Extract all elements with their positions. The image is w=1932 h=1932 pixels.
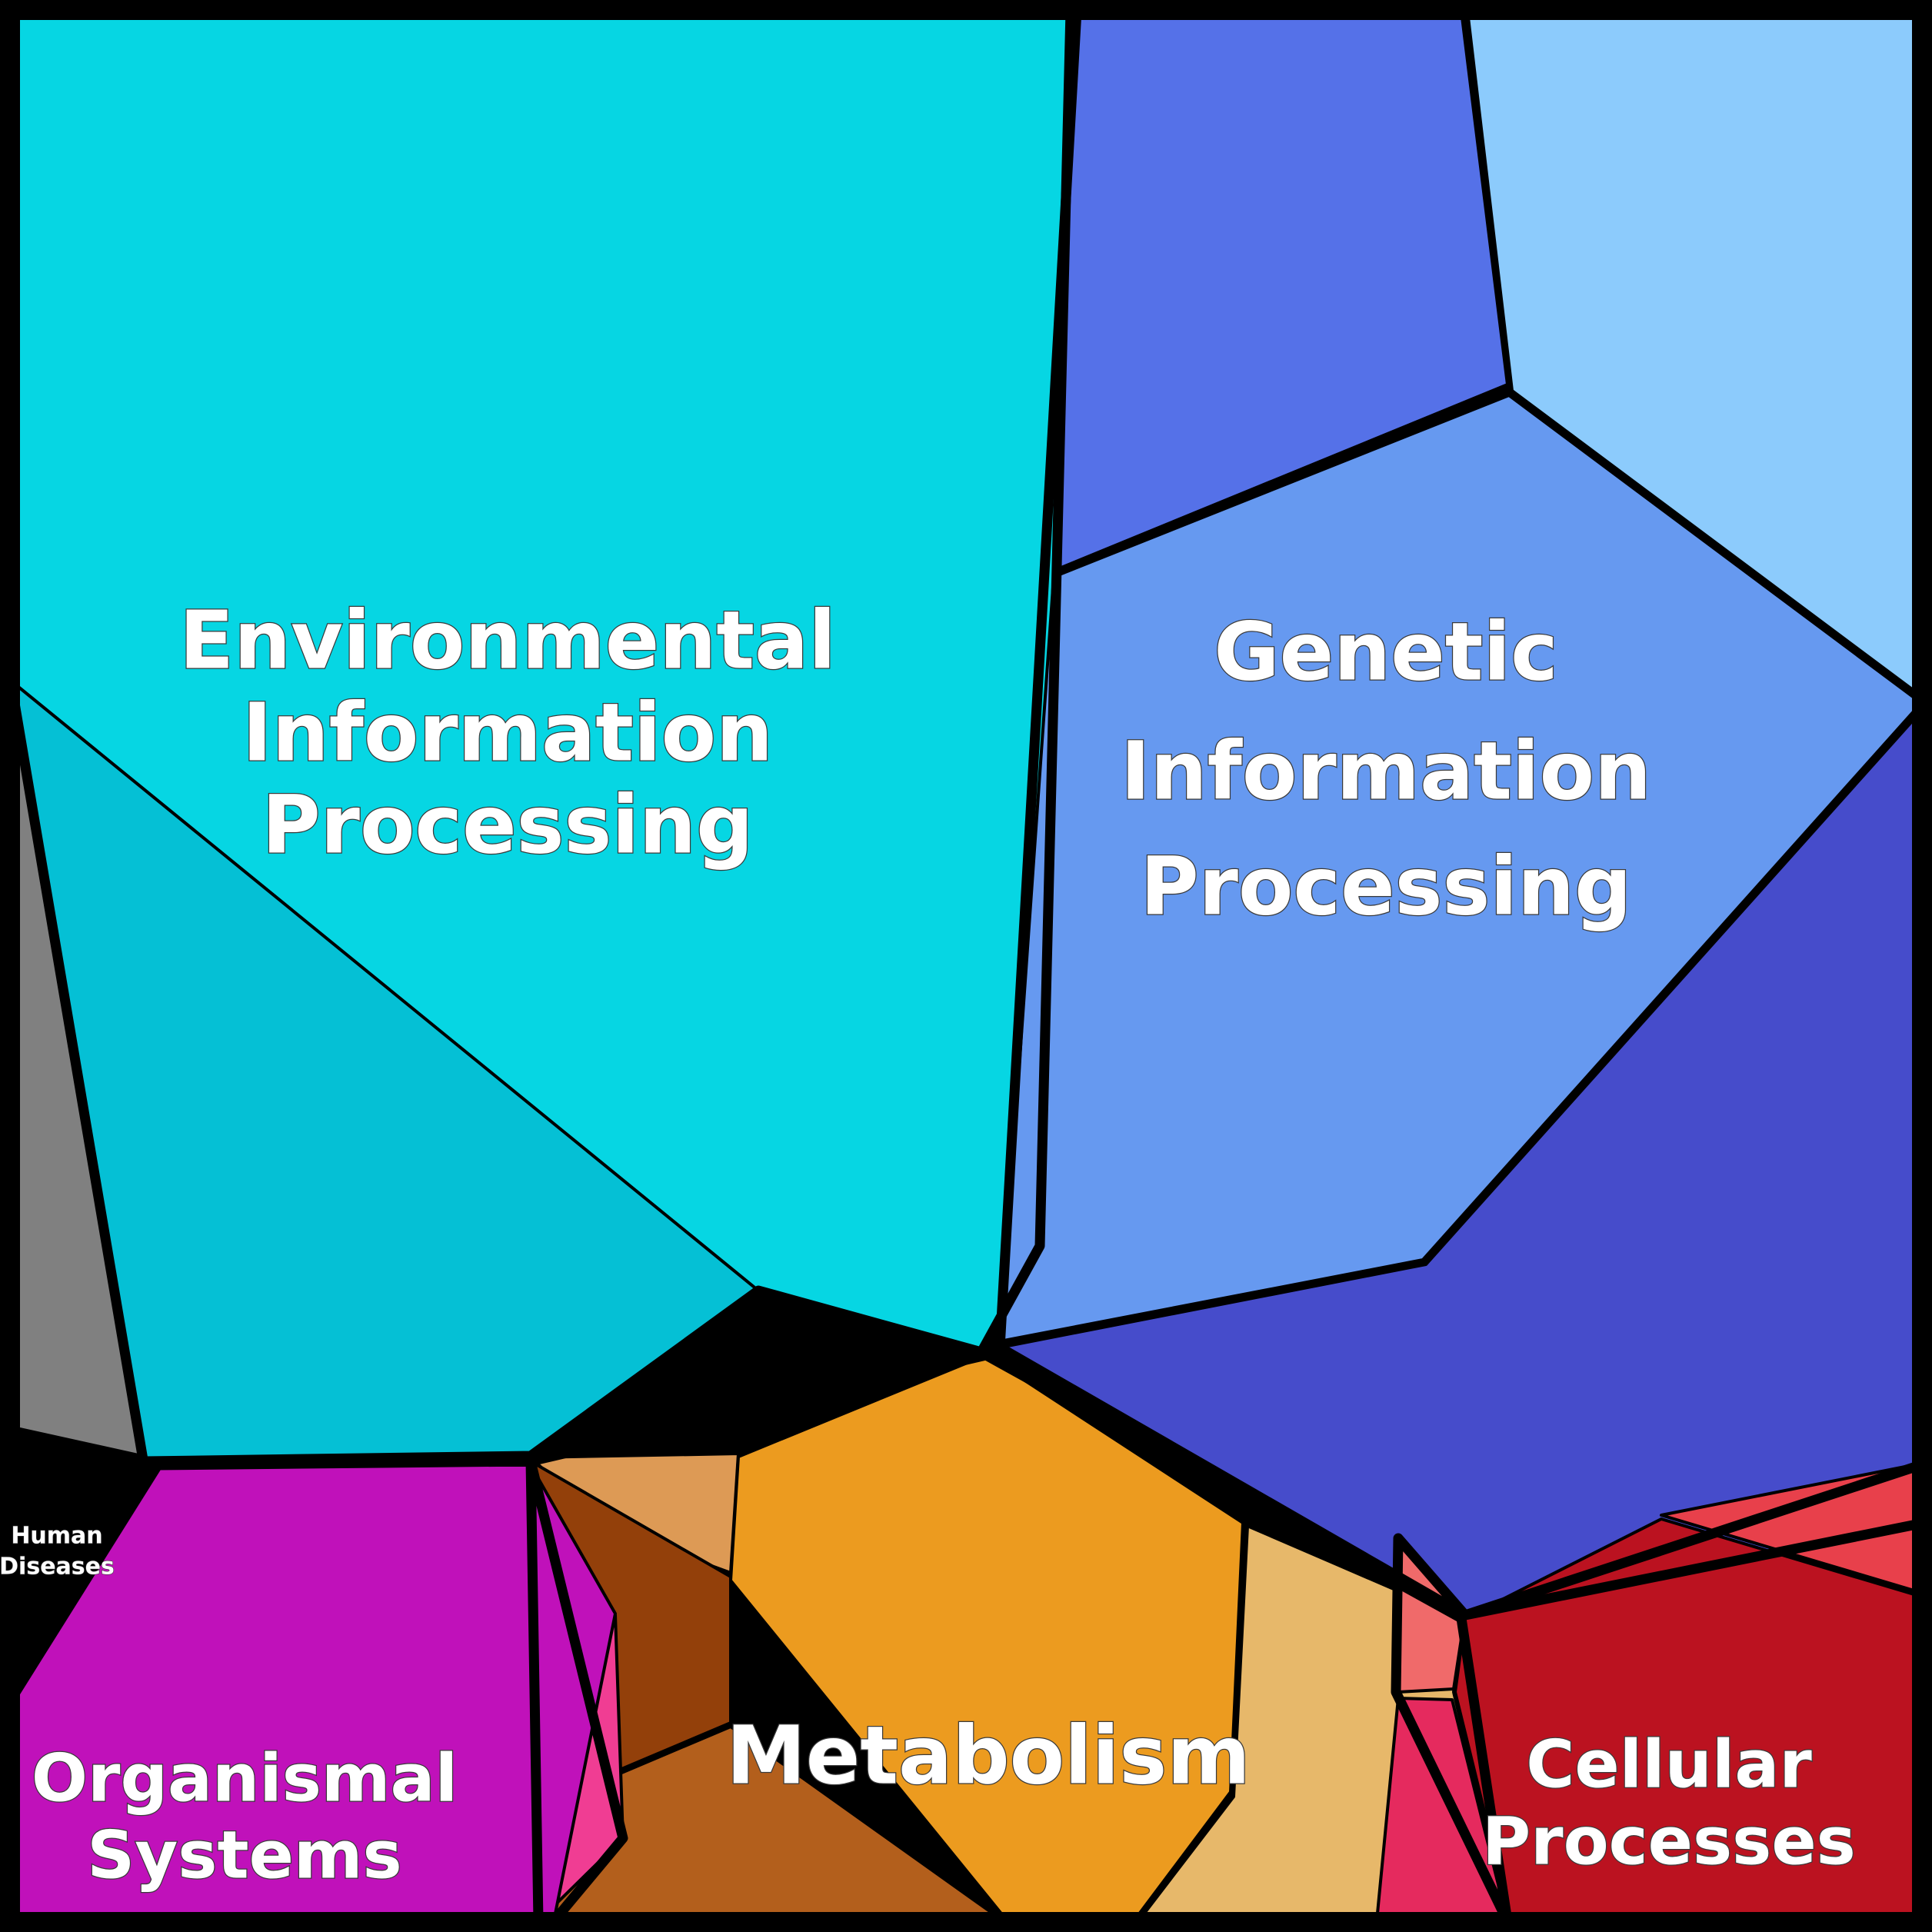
label-line: Organismal [32,1740,458,1817]
label-line: Metabolism [726,1708,1250,1802]
label-line: Processes [1482,1803,1856,1880]
label-line: Genetic [1214,605,1557,698]
label-line: Human [11,1523,102,1550]
voronoi-treemap-svg: Environmental Information Processing Gen… [0,0,1932,1932]
label-organismal-systems: Organismal Systems [32,1740,458,1894]
label-cellular-processes: Cellular Processes [1482,1726,1856,1880]
treemap-canvas: Environmental Information Processing Gen… [0,0,1932,1932]
label-line: Environmental [179,593,836,687]
label-line: Diseases [0,1554,115,1581]
label-metabolism: Metabolism [726,1708,1250,1802]
label-line: Information [1121,724,1651,818]
label-environmental-information-processing: Environmental Information Processing [179,593,836,871]
label-line: Systems [87,1817,401,1894]
label-line: Information [242,685,773,779]
label-line: Cellular [1526,1726,1812,1803]
label-line: Processing [1140,839,1631,933]
label-line: Processing [261,778,753,871]
